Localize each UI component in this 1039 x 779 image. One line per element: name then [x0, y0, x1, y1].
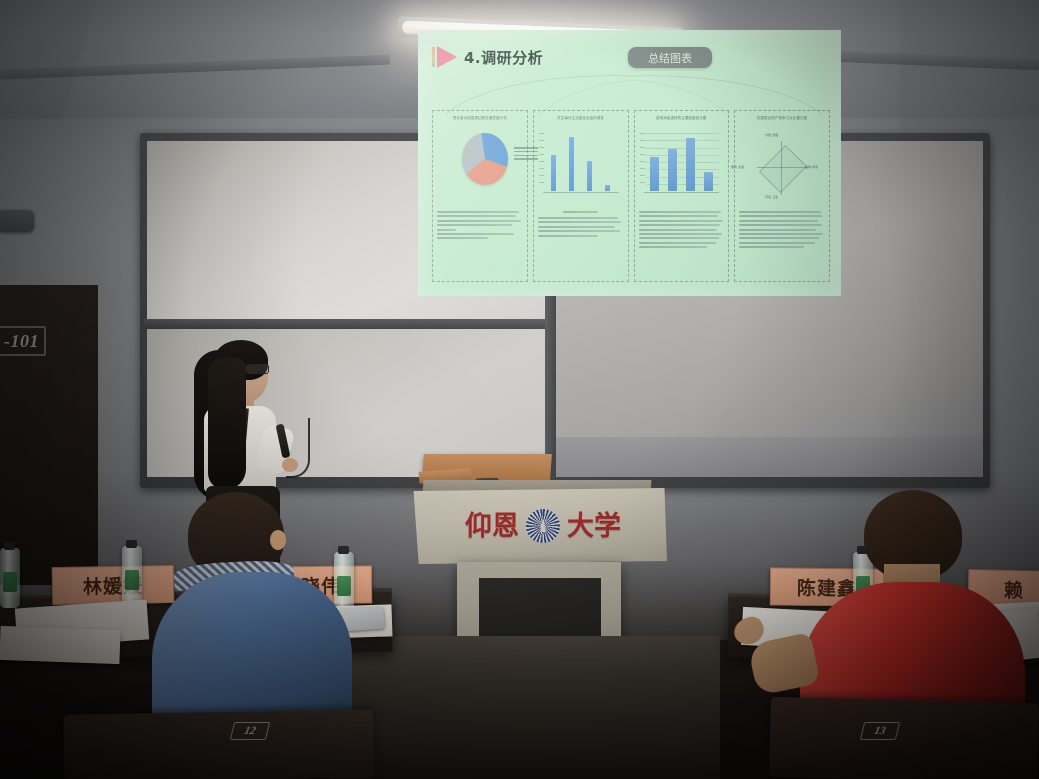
slide-title-row: 4.调研分析 [432, 46, 543, 68]
bar-item [650, 157, 659, 191]
panel-bar-thin-text [538, 211, 624, 239]
university-seal-icon [526, 509, 560, 543]
panel-pie-title: 受访者对校园周边餐饮满意度分布 [436, 116, 524, 120]
x-axis-line [644, 192, 720, 193]
radar-label-bottom: 环境 卫生 [765, 195, 778, 199]
bottle-cap [4, 542, 15, 550]
bar-item [551, 155, 556, 191]
slide-panels: 受访者对校园周边餐饮满意度分布 学生每月生活费支出结构调查 [432, 110, 830, 282]
slide-panel-pie: 受访者对校园周边餐饮满意度分布 [432, 110, 528, 282]
slide-panel-bar-thin: 学生每月生活费支出结构调查 [533, 110, 629, 282]
classroom-photo: -101 4.调研分析 总结图表 [0, 0, 1039, 779]
podium-text-left: 仰恩 [465, 513, 519, 540]
radar-label-top: 价格 合理 [765, 133, 778, 137]
pie-chart [462, 133, 508, 185]
presenter-hair-front [208, 358, 246, 490]
bar-item [605, 185, 610, 191]
slide-panel-radar: 校园周边商户竞争力对比雷达图 价格 合理 服务 态度 环境 卫生 品种 丰富 [734, 110, 830, 282]
chair-number-plate: 13 [860, 722, 900, 740]
seated-blue-ear [270, 530, 286, 550]
x-axis-line [543, 192, 619, 193]
triangle-marker-icon [432, 46, 458, 68]
projected-slide: 4.调研分析 总结图表 受访者对校园周边餐饮满意度分布 [418, 30, 841, 296]
room-number-sign: -101 [0, 326, 46, 356]
chair-number-label: 13 [873, 725, 887, 737]
y-axis-ticks [640, 133, 645, 191]
panel-pie-text [437, 211, 523, 242]
radar-label-left: 服务 态度 [731, 165, 744, 169]
glasses-icon [246, 364, 269, 374]
radar-polygon [759, 145, 807, 193]
bar-series [545, 129, 617, 191]
panel-bar-thin-title: 学生每月生活费支出结构调查 [537, 116, 625, 120]
podium-text-right: 大学 [567, 513, 621, 540]
panel-pie-figure [436, 123, 524, 207]
slide-panel-bar-wide: 影响消费选择的主要因素统计图 [634, 110, 730, 282]
bar-series [646, 129, 718, 191]
panel-radar-title: 校园周边商户竞争力对比雷达图 [738, 116, 826, 120]
chair-number-label: 12 [243, 725, 257, 737]
chair-left [63, 709, 374, 779]
panel-bar-wide-title: 影响消费选择的主要因素统计图 [638, 116, 726, 120]
slide-section-pill: 总结图表 [628, 47, 712, 68]
radar-label-right: 品种 丰富 [805, 165, 818, 169]
podium-branding: 仰恩 大学 [443, 508, 643, 544]
chair-right [769, 697, 1039, 779]
paper-document [0, 626, 121, 664]
y-axis-ticks [539, 133, 544, 191]
water-bottle [0, 548, 20, 608]
seated-person-blue [118, 492, 358, 742]
wall-vent [0, 210, 34, 232]
panel-bar-wide-text [639, 211, 725, 251]
panel-bar-wide-figure [638, 123, 726, 207]
presenter-hand [282, 458, 298, 472]
seated-blue-shading [152, 572, 352, 732]
bar-item [587, 161, 592, 191]
bar-item [569, 137, 574, 191]
chair-number-plate: 12 [230, 722, 270, 740]
panel-radar-figure: 价格 合理 服务 态度 环境 卫生 品种 丰富 [738, 123, 826, 207]
bar-item [686, 138, 695, 191]
bar-item [704, 172, 713, 191]
panel-bar-thin-figure [537, 123, 625, 207]
slide-pill-label: 总结图表 [648, 50, 692, 66]
bar-item [668, 149, 677, 191]
slide-title: 4.调研分析 [464, 47, 543, 68]
room-number-label: -101 [4, 331, 39, 352]
radar-chart: 价格 合理 服务 态度 环境 卫生 品种 丰富 [753, 139, 811, 197]
panel-radar-text [739, 211, 825, 251]
floor-center-aisle [330, 636, 720, 779]
